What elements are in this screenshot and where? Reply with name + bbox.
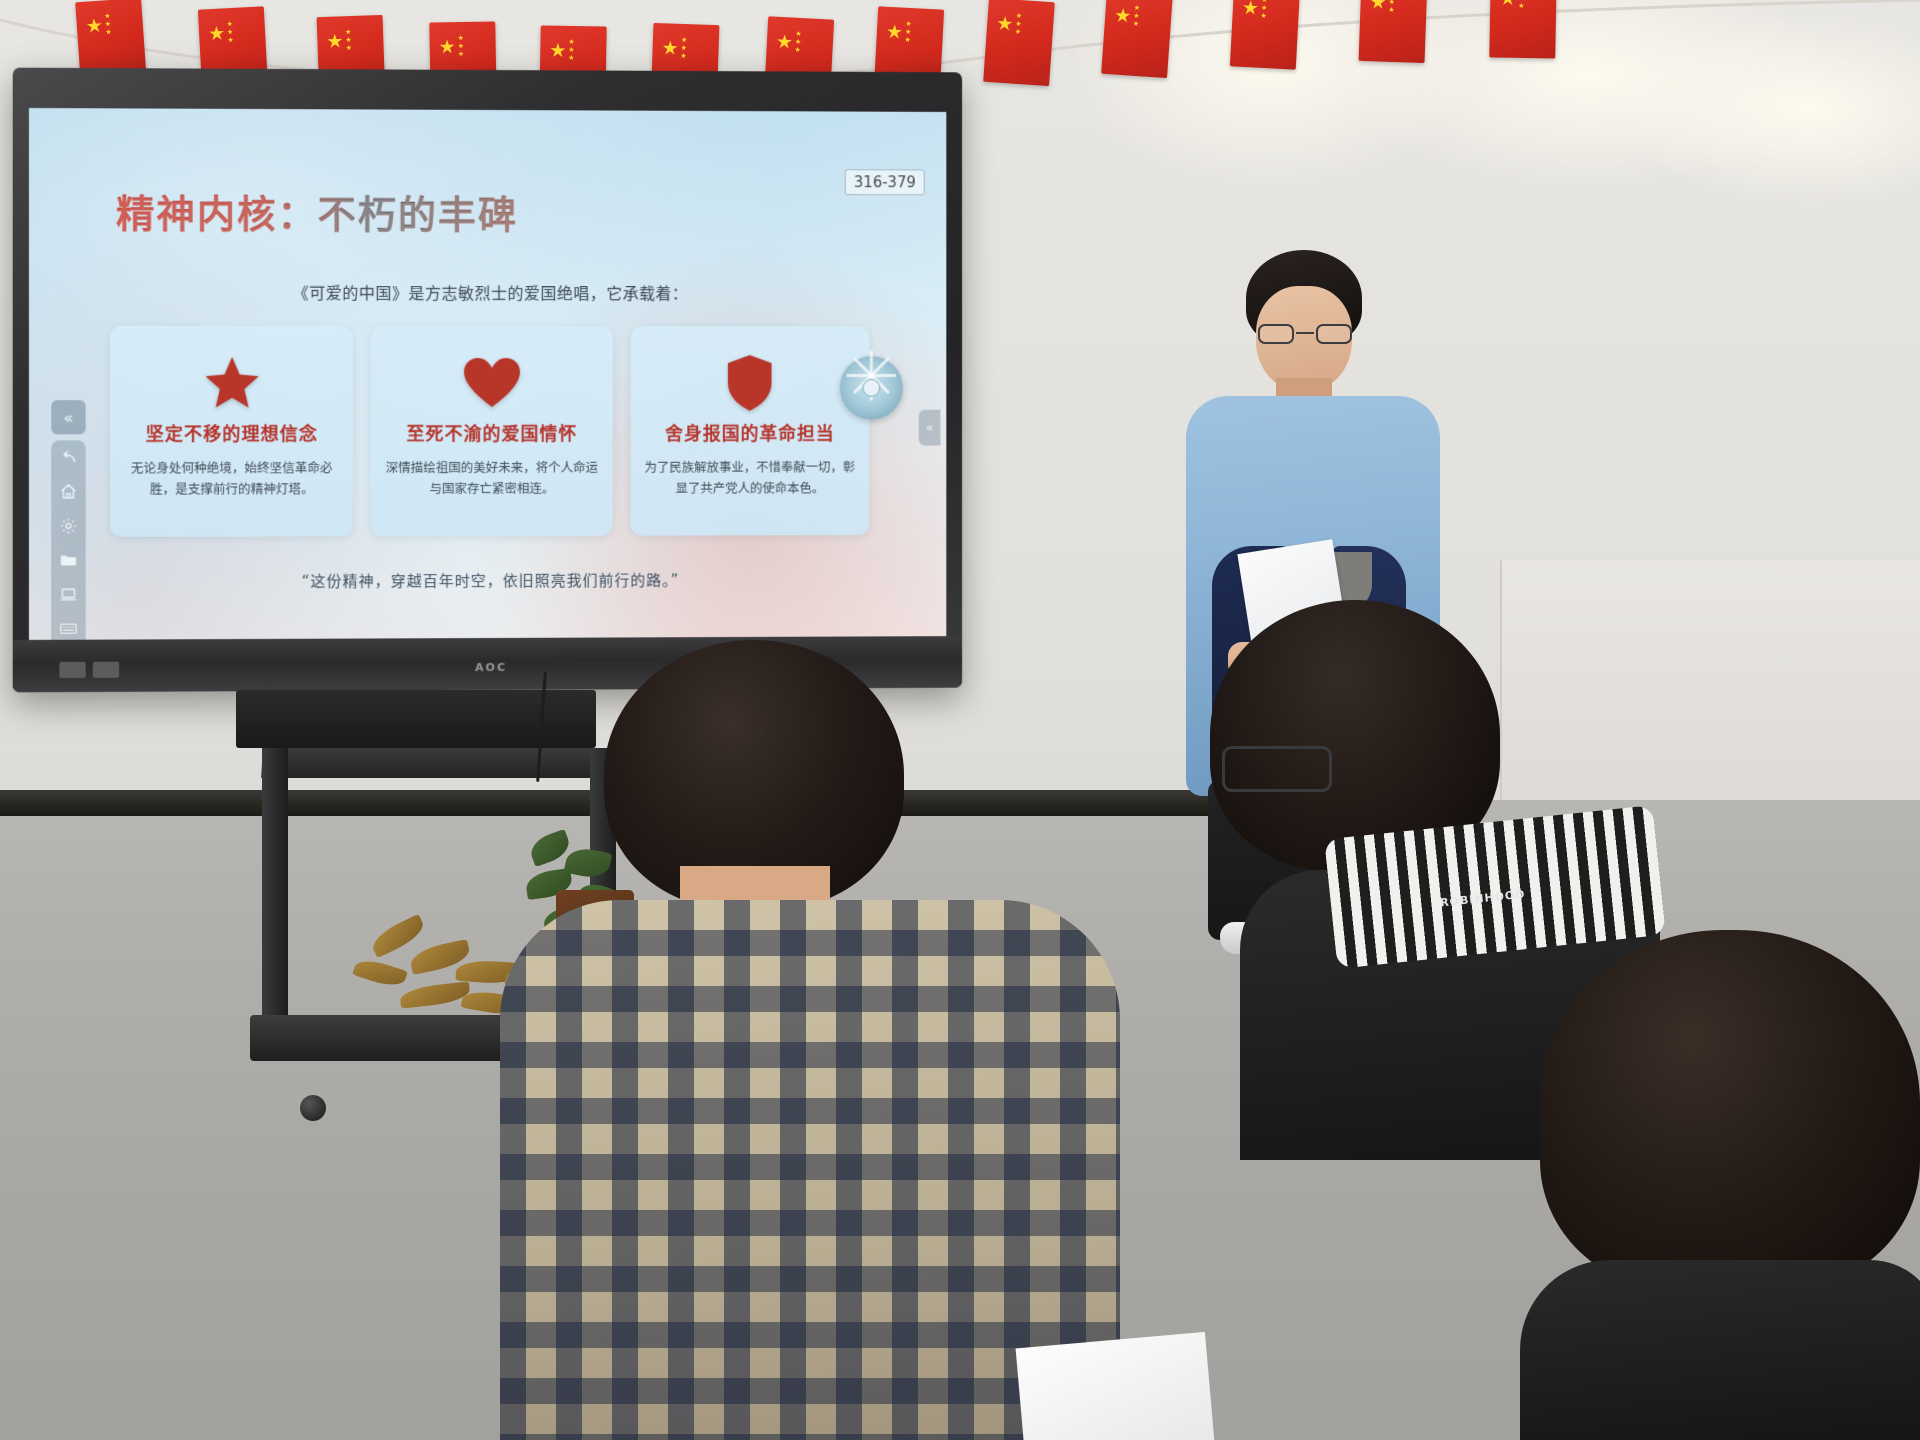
classroom-scene: ★ ★★★ ★ ★★★ ★ ★★★ ★ ★★★ ★ ★★★ ★ ★★★ ★ ★★… [0,0,1920,1440]
flag-small-stars: ★★★ [1132,4,1140,28]
keyboard-icon[interactable] [51,611,85,639]
plant-leaf-dry [352,955,408,990]
flag-big-star: ★ [326,32,344,52]
audience-hair [1540,930,1920,1290]
screen-toolbar[interactable]: « [51,400,85,640]
flag-big-star: ★ [1241,0,1259,19]
flag-small-stars: ★★★ [226,20,234,44]
audience-body [1520,1260,1920,1440]
presenter-glasses [1256,324,1354,344]
flag-small-stars: ★★★ [680,36,687,60]
flag-small-stars: ★★★ [904,20,912,44]
audience-member-far-right [1540,930,1920,1440]
toolbar-collapse-button[interactable]: « [51,400,85,434]
heart-icon [462,352,522,414]
chevron-left-icon: « [926,420,934,435]
plant-leaf-dry [399,981,471,1008]
shield-icon [726,352,774,414]
stand-caster [300,1095,326,1121]
card-title: 舍身报国的革命担当 [665,420,834,446]
flag-big-star: ★ [775,33,793,53]
flag-small-stars: ★★★ [1388,0,1395,14]
audience-handout-paper [1016,1332,1215,1440]
flag-small-stars: ★★★ [1014,12,1022,36]
flag-big-star: ★ [439,38,456,57]
card-title: 至死不渝的爱国情怀 [406,420,577,446]
flag-small-stars: ★★★ [104,12,112,36]
folder-icon[interactable] [51,543,85,577]
stand-leg [262,748,288,1038]
flag-big-star: ★ [208,24,226,44]
back-arrow-icon[interactable] [51,440,85,474]
flag-big-star: ★ [996,14,1014,34]
audience-glasses [1222,746,1332,792]
flag-small-stars: ★★★ [345,28,352,52]
flag-big-star: ★ [885,23,903,43]
flag-small-stars: ★★★ [457,34,464,58]
slide-title: 精神内核：不朽的丰碑 [116,183,518,239]
flag-icon: ★ ★★★ [983,0,1055,86]
laptop-icon[interactable] [51,577,85,611]
flag-big-star: ★ [549,42,566,61]
glasses-bridge [1296,332,1314,334]
card-body: 深情描绘祖国的美好未来，将个人命运与国家存亡紧密相连。 [385,458,598,500]
home-icon[interactable] [51,475,85,509]
flag-icon: ★ ★★★ [1230,0,1300,70]
glasses-lens-left [1258,324,1294,344]
plant-leaf-dry [368,914,428,958]
right-collapse-button[interactable]: « [919,410,941,446]
flag-big-star: ★ [661,39,679,59]
flag-big-star: ★ [1369,0,1387,13]
flag-icon: ★ ★★★ [1101,0,1173,78]
card-title: 坚定不移的理想信念 [146,420,318,446]
flag-big-star: ★ [1114,6,1132,26]
slide-subtitle: 《可爱的中国》是方志敏烈士的爱国绝唱，它承载着： [29,279,946,304]
display-screen[interactable]: 精神内核：不朽的丰碑 316-379 《可爱的中国》是方志敏烈士的爱国绝唱，它承… [29,108,946,640]
flag-big-star: ★ [1499,0,1516,9]
value-card[interactable]: 至死不渝的爱国情怀 深情描绘祖国的美好未来，将个人命运与国家存亡紧密相连。 [371,326,612,536]
page-number-badge: 316-379 [845,169,925,195]
flag-small-stars: ★★★ [1518,0,1525,10]
flag-icon: ★ ★★★ [1359,0,1428,63]
compass-hub[interactable] [863,379,881,397]
toolbar-button-group[interactable] [51,440,85,640]
flag-icon: ★ ★★★ [1489,0,1556,59]
card-body: 为了民族解放事业，不惜奉献一切，彰显了共产党人的使命本色。 [644,458,855,499]
presentation-slide: 精神内核：不朽的丰碑 316-379 《可爱的中国》是方志敏烈士的爱国绝唱，它承… [29,108,946,640]
glasses-lens-right [1316,324,1352,344]
star-icon [203,352,261,414]
audience-member-foreground [500,640,1120,1440]
card-body: 无论身处何种绝境，始终坚信革命必胜，是支撑前行的精神灯塔。 [124,458,339,500]
value-card[interactable]: 坚定不移的理想信念 无论身处何种绝境，始终坚信革命必胜，是支撑前行的精神灯塔。 [110,326,353,537]
flag-small-stars: ★★★ [568,38,575,62]
flag-big-star: ★ [85,17,103,37]
display-ports [59,662,124,680]
slide-quote: “这份精神，穿越百年时空，依旧照亮我们前行的路。” [29,569,946,593]
gear-icon[interactable] [51,509,85,543]
interactive-whiteboard[interactable]: 精神内核：不朽的丰碑 316-379 《可爱的中国》是方志敏烈士的爱国绝唱，它承… [13,68,962,693]
flag-small-stars: ★★★ [1260,0,1268,20]
card-group: 坚定不移的理想信念 无论身处何种绝境，始终坚信革命必胜，是支撑前行的精神灯塔。 … [110,326,869,537]
flag-small-stars: ★★★ [794,30,802,54]
chevron-left-icon: « [64,408,74,427]
value-card[interactable]: 舍身报国的革命担当 为了民族解放事业，不惜奉献一切，彰显了共产党人的使命本色。 [630,326,869,536]
compass-widget[interactable] [840,356,903,420]
